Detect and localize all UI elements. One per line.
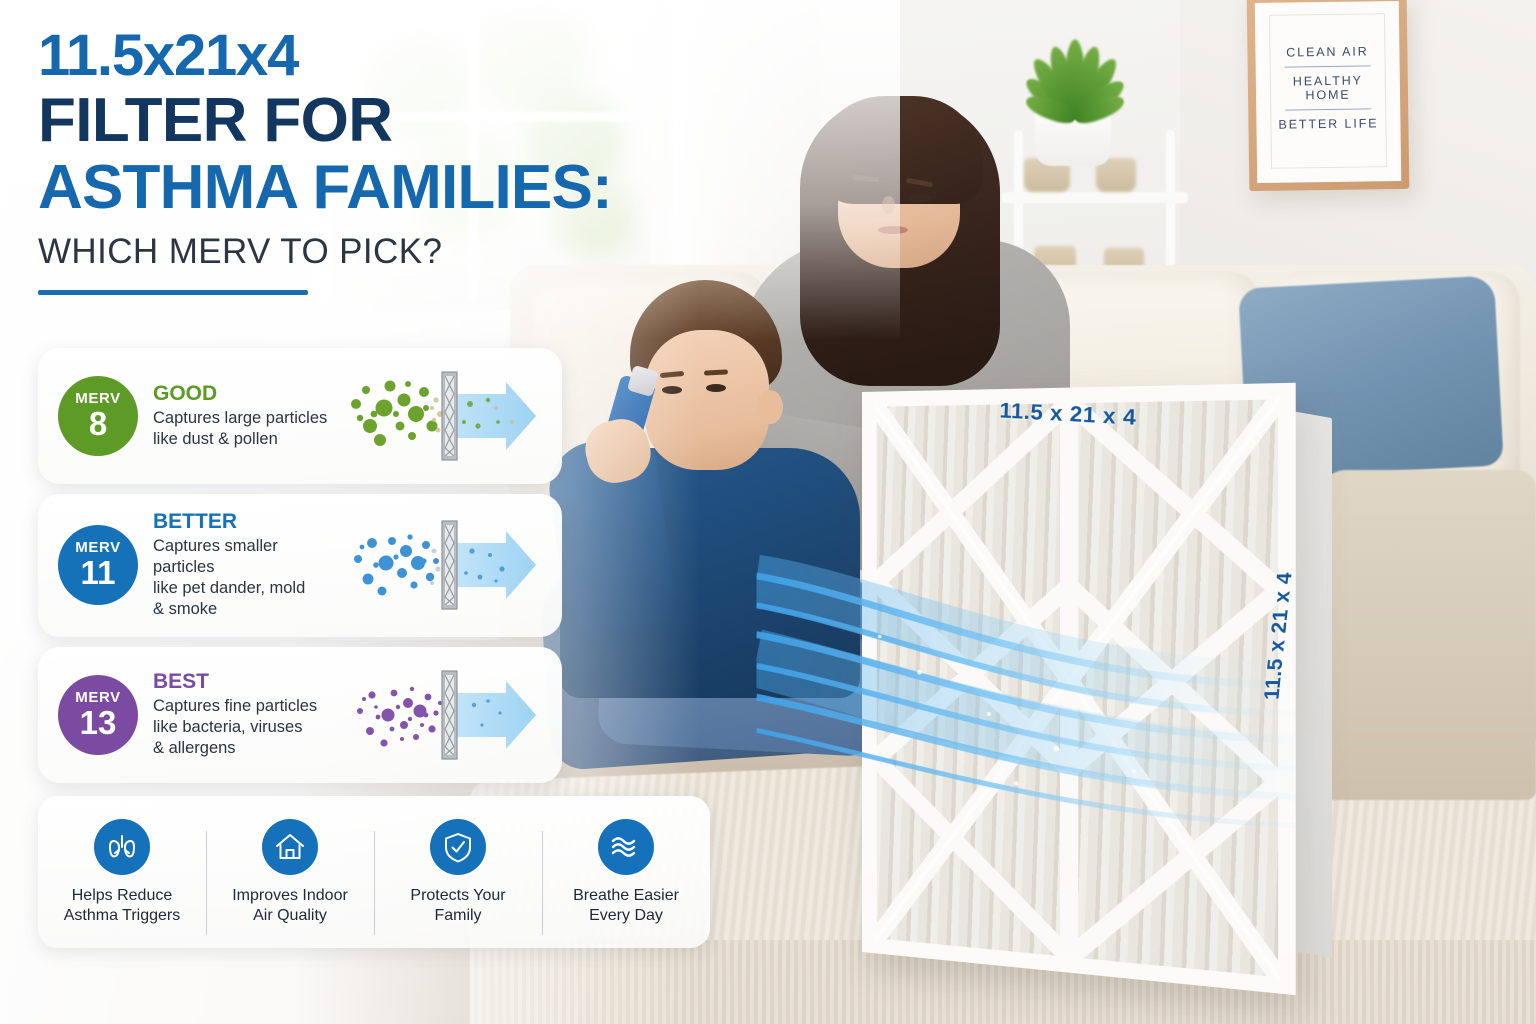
merv-desc-line: Captures large particles bbox=[153, 408, 338, 429]
air-filter-product: 11.5 x 21 x 4 11.5 x 21 x 4 bbox=[862, 392, 1462, 992]
benefits-bar: Helps Reduce Asthma Triggers Improves In… bbox=[38, 796, 710, 948]
merv13-filter-diagram bbox=[346, 663, 544, 767]
headline-underline bbox=[38, 290, 308, 295]
benefit-label-air-quality: Improves Indoor Air Quality bbox=[232, 886, 348, 926]
merv-rank-11: BETTER bbox=[153, 510, 338, 534]
merv-card-8[interactable]: MERV 8 GOOD Captures large particles lik… bbox=[38, 348, 562, 484]
merv-desc-11: Captures smaller particles like pet dand… bbox=[153, 536, 338, 620]
benefit-label-line: Asthma Triggers bbox=[64, 906, 180, 926]
merv-badge-8: MERV 8 bbox=[58, 376, 138, 456]
filter-frame-grid bbox=[862, 383, 1296, 995]
benefit-label-breathe: Breathe Easier Every Day bbox=[573, 886, 679, 926]
merv-badge-number: 8 bbox=[89, 407, 107, 441]
infographic-canvas: CLEAN AIR HEALTHY HOME BETTER LIFE bbox=[0, 0, 1536, 1024]
house-icon bbox=[262, 819, 318, 875]
filter-element bbox=[442, 521, 457, 609]
headline-line-1: 11.5x21x4 bbox=[38, 26, 738, 85]
merv-text-8: GOOD Captures large particles like dust … bbox=[153, 382, 338, 450]
wall-art-line-1: CLEAN AIR bbox=[1270, 44, 1384, 60]
benefit-item-family[interactable]: Protects Your Family bbox=[374, 819, 542, 926]
boy-eye bbox=[706, 384, 726, 392]
benefit-label-line: Protects Your bbox=[410, 886, 505, 906]
merv-badge-number: 13 bbox=[80, 706, 117, 740]
boy-ear bbox=[757, 390, 783, 424]
benefit-label-line: Improves Indoor bbox=[232, 886, 348, 906]
headline-line-2: FILTER FOR bbox=[38, 89, 738, 153]
benefit-label-line: Family bbox=[410, 906, 505, 926]
benefit-item-air-quality[interactable]: Improves Indoor Air Quality bbox=[206, 819, 374, 926]
merv-card-13[interactable]: MERV 13 BEST Captures fine particles lik… bbox=[38, 647, 562, 783]
merv-card-11[interactable]: MERV 11 BETTER Captures smaller particle… bbox=[38, 494, 562, 637]
merv-badge-number: 11 bbox=[81, 556, 116, 590]
merv-text-13: BEST Captures fine particles like bacter… bbox=[153, 670, 338, 759]
merv-badge-13: MERV 13 bbox=[58, 675, 138, 755]
benefit-label-family: Protects Your Family bbox=[410, 886, 505, 926]
headline-line-3: ASTHMA FAMILIES: bbox=[38, 156, 738, 220]
merv-card-list: MERV 8 GOOD Captures large particles lik… bbox=[38, 348, 562, 793]
wall-art-line-3: BETTER LIFE bbox=[1271, 116, 1385, 132]
benefit-label-asthma: Helps Reduce Asthma Triggers bbox=[64, 886, 180, 926]
shield-icon bbox=[430, 819, 486, 875]
framed-wall-art: CLEAN AIR HEALTHY HOME BETTER LIFE bbox=[1247, 0, 1410, 191]
merv-badge-label: MERV bbox=[75, 690, 120, 705]
merv-desc-8: Captures large particles like dust & pol… bbox=[153, 408, 338, 450]
merv-text-11: BETTER Captures smaller particles like p… bbox=[153, 510, 338, 621]
waves-icon bbox=[598, 819, 654, 875]
benefit-item-asthma[interactable]: Helps Reduce Asthma Triggers bbox=[38, 819, 206, 926]
wall-art-line-2: HEALTHY HOME bbox=[1271, 73, 1385, 103]
filter-front-face: 11.5 x 21 x 4 bbox=[862, 383, 1296, 995]
benefit-label-line: Every Day bbox=[573, 906, 679, 926]
merv-rank-8: GOOD bbox=[153, 382, 338, 406]
benefit-label-line: Breathe Easier bbox=[573, 886, 679, 906]
merv-desc-line: & smoke bbox=[153, 599, 338, 620]
merv-badge-label: MERV bbox=[75, 391, 120, 406]
merv-desc-line: like dust & pollen bbox=[153, 429, 338, 450]
merv-badge-11: MERV 11 bbox=[58, 525, 138, 605]
benefit-label-line: Air Quality bbox=[232, 906, 348, 926]
mother-eye bbox=[908, 194, 932, 202]
filter-element bbox=[442, 671, 457, 759]
houseplant bbox=[985, 18, 1165, 118]
merv-badge-label: MERV bbox=[75, 540, 120, 555]
merv-desc-line: & allergens bbox=[153, 738, 338, 759]
benefit-label-line: Helps Reduce bbox=[64, 886, 180, 906]
merv-desc-line: Captures fine particles bbox=[153, 696, 338, 717]
merv11-filter-diagram bbox=[346, 513, 544, 617]
benefit-item-breathe[interactable]: Breathe Easier Every Day bbox=[542, 819, 710, 926]
merv-desc-line: Captures smaller particles bbox=[153, 536, 338, 578]
merv-desc-line: like pet dander, mold bbox=[153, 578, 338, 599]
merv-desc-13: Captures fine particles like bacteria, v… bbox=[153, 696, 338, 759]
headline-block: 11.5x21x4 FILTER FOR ASTHMA FAMILIES: WH… bbox=[38, 26, 738, 295]
filter-element bbox=[442, 372, 457, 460]
merv-rank-13: BEST bbox=[153, 670, 338, 694]
lungs-icon bbox=[94, 819, 150, 875]
headline-subtitle: WHICH MERV TO PICK? bbox=[38, 232, 738, 272]
merv8-filter-diagram bbox=[346, 364, 544, 468]
merv-desc-line: like bacteria, viruses bbox=[153, 717, 338, 738]
